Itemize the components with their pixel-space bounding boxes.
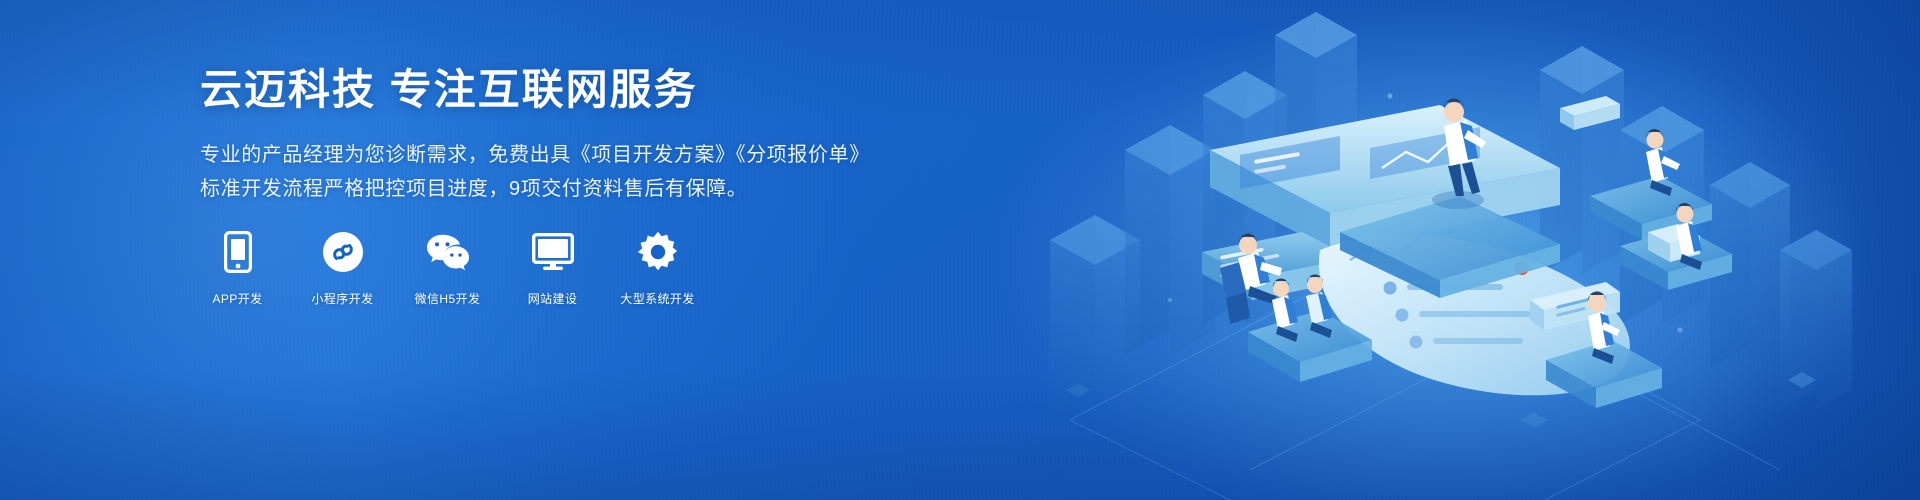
service-item-app[interactable]: APP开发 <box>200 230 275 307</box>
service-item-miniprogram[interactable]: 小程序开发 <box>305 230 380 307</box>
isometric-illustration <box>920 0 1920 500</box>
hero-copy: 云迈科技 专注互联网服务 专业的产品经理为您诊断需求，免费出具《项目开发方案》《… <box>200 66 900 206</box>
subtitle-line-2: 标准开发流程严格把控项目进度，9项交付资料售后有保障。 <box>200 172 900 206</box>
service-label: 网站建设 <box>528 290 578 307</box>
wechat-icon <box>426 230 470 274</box>
mobile-phone-icon <box>216 230 260 274</box>
service-item-system[interactable]: 大型系统开发 <box>620 230 695 307</box>
monitor-icon <box>531 230 575 274</box>
service-item-website[interactable]: 网站建设 <box>515 230 590 307</box>
service-label: 大型系统开发 <box>620 290 694 307</box>
service-label: 微信H5开发 <box>415 290 481 307</box>
service-item-wechat[interactable]: 微信H5开发 <box>410 230 485 307</box>
page-title: 云迈科技 专注互联网服务 <box>200 66 900 114</box>
hero-subtitle: 专业的产品经理为您诊断需求，免费出具《项目开发方案》《分项报价单》 标准开发流程… <box>200 138 900 206</box>
service-list: APP开发 小程序开发 <box>200 230 695 307</box>
gear-icon <box>636 230 680 274</box>
mini-program-icon <box>321 230 365 274</box>
service-label: APP开发 <box>212 290 262 307</box>
subtitle-line-1: 专业的产品经理为您诊断需求，免费出具《项目开发方案》《分项报价单》 <box>200 138 900 172</box>
service-label: 小程序开发 <box>311 290 373 307</box>
hero-banner: 云迈科技 专注互联网服务 专业的产品经理为您诊断需求，免费出具《项目开发方案》《… <box>0 0 1920 500</box>
